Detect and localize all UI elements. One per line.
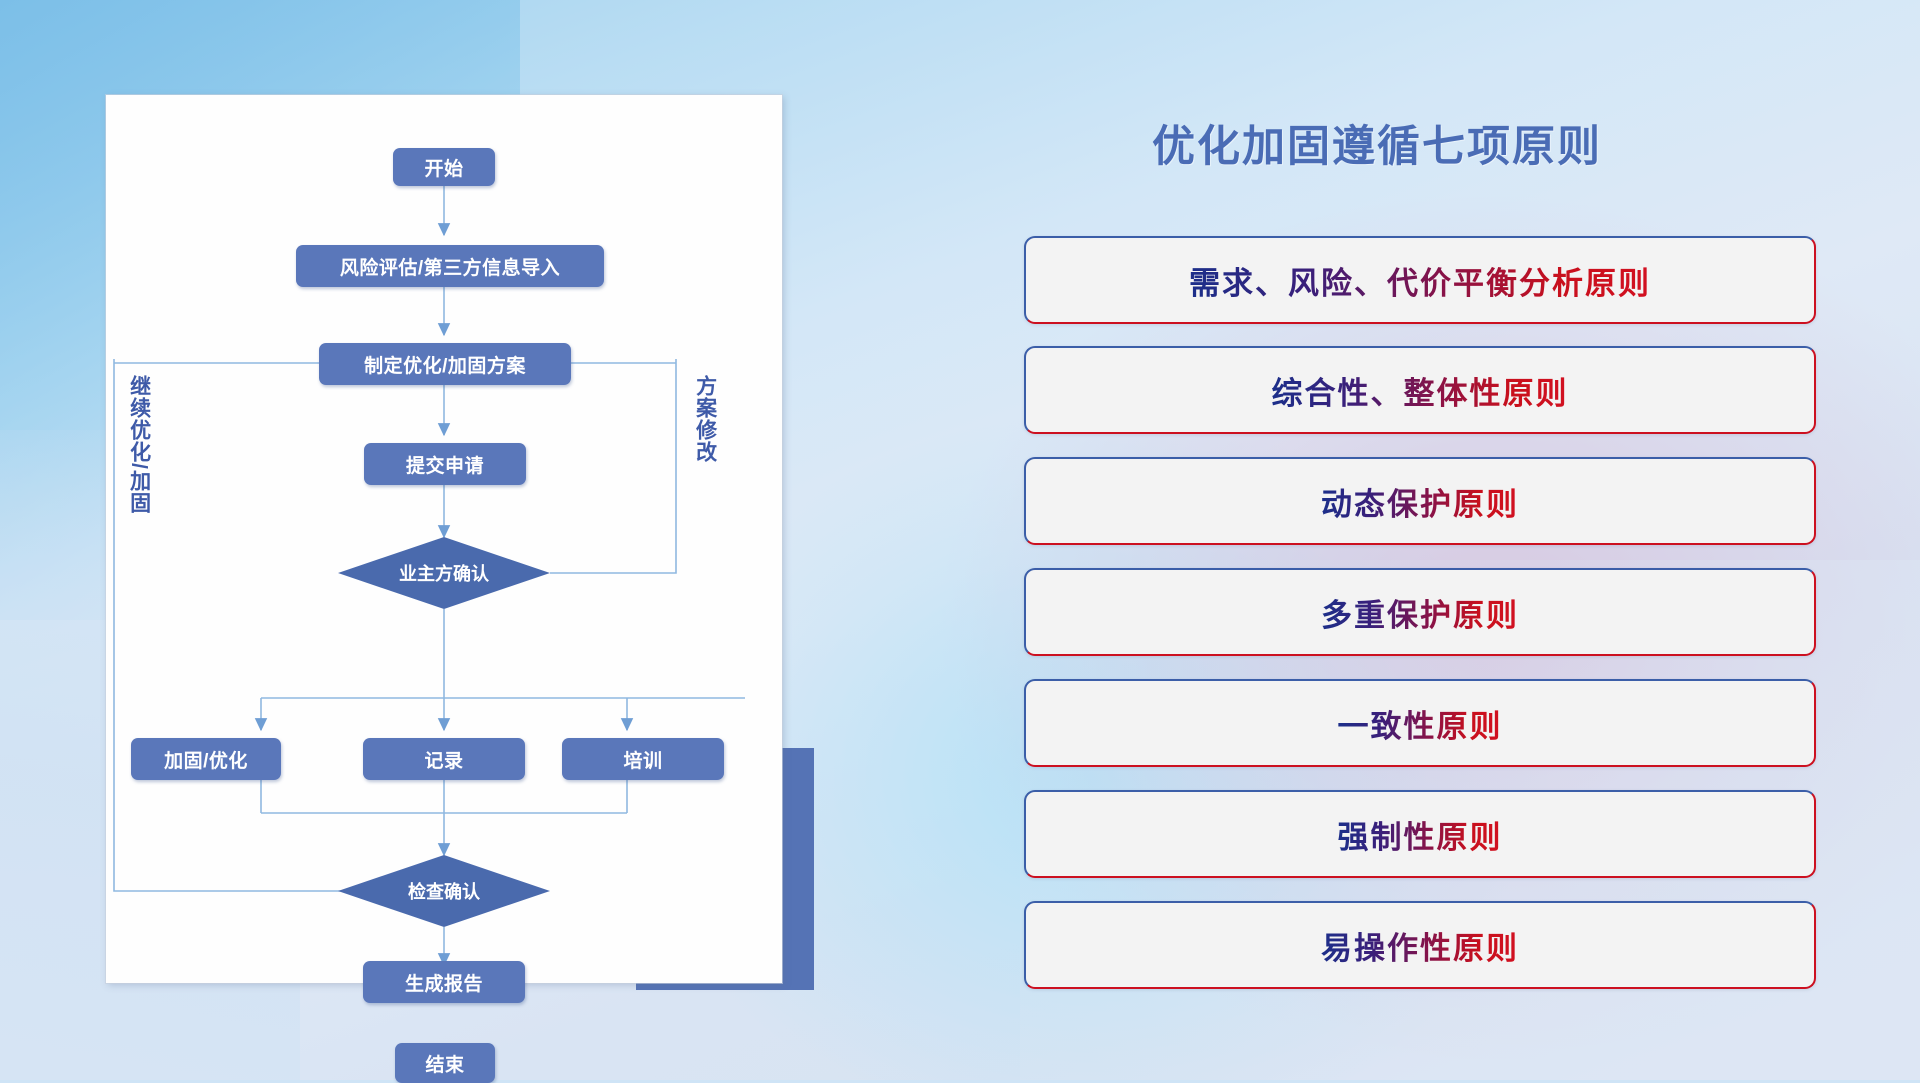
principle-label-4: 多重保护原则: [1321, 590, 1519, 635]
principle-label-1: 需求、风险、代价平衡分析原则: [1189, 258, 1651, 303]
node-record[interactable]: 记录: [363, 738, 525, 780]
edge-label-plan-revision: 方案修改: [694, 375, 716, 505]
principle-item-7[interactable]: 易操作性原则: [1024, 901, 1816, 989]
edge-label-continue-optimize: 继续优化/加固: [128, 375, 150, 545]
node-end[interactable]: 结束: [395, 1043, 495, 1083]
principles-panel: 优化加固遵循七项原则 需求、风险、代价平衡分析原则 综合性、整体性原则 动态保护…: [1020, 95, 1820, 1015]
decision-check-confirm-label: 检查确认: [338, 871, 550, 911]
principle-item-2[interactable]: 综合性、整体性原则: [1024, 346, 1816, 434]
principle-label-7: 易操作性原则: [1321, 923, 1519, 968]
principle-label-3: 动态保护原则: [1321, 479, 1519, 524]
decision-owner-confirm-label: 业主方确认: [338, 553, 550, 593]
flowchart-connectors: [106, 95, 782, 983]
principle-item-4[interactable]: 多重保护原则: [1024, 568, 1816, 656]
principle-label-6: 强制性原则: [1338, 812, 1503, 857]
node-risk-assessment[interactable]: 风险评估/第三方信息导入: [296, 245, 604, 287]
node-submit-application[interactable]: 提交申请: [364, 443, 526, 485]
node-generate-report[interactable]: 生成报告: [363, 961, 525, 1003]
principle-item-3[interactable]: 动态保护原则: [1024, 457, 1816, 545]
principle-label-2: 综合性、整体性原则: [1272, 368, 1569, 413]
principle-item-6[interactable]: 强制性原则: [1024, 790, 1816, 878]
panel-title: 优化加固遵循七项原则: [1152, 112, 1602, 174]
node-start[interactable]: 开始: [393, 148, 495, 186]
node-training[interactable]: 培训: [562, 738, 724, 780]
principle-label-5: 一致性原则: [1338, 701, 1503, 746]
principle-item-5[interactable]: 一致性原则: [1024, 679, 1816, 767]
flowchart-card: 业主方确认 检查确认 开始 风险评估/第三方信息导入 制定优化/加固方案 提交申…: [106, 95, 782, 983]
node-reinforce-optimize[interactable]: 加固/优化: [131, 738, 281, 780]
principle-item-1[interactable]: 需求、风险、代价平衡分析原则: [1024, 236, 1816, 324]
node-make-plan[interactable]: 制定优化/加固方案: [319, 343, 571, 385]
